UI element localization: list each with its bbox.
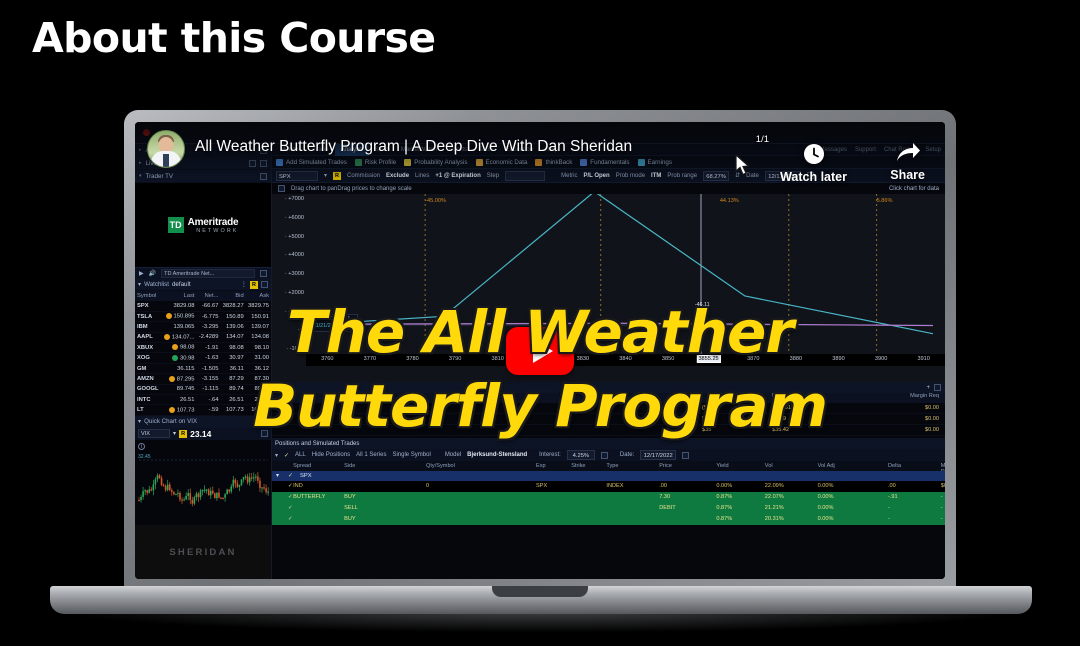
cell-symbol: LT — [135, 405, 161, 415]
table-row[interactable]: GOOGL 89.745-1.11589.7489.75 — [135, 384, 271, 394]
sim-date-input[interactable]: 12/17/2022 — [640, 450, 676, 460]
cell-delta: - — [888, 505, 890, 511]
panel-menu-icon[interactable] — [261, 281, 268, 288]
cell-bid: 139.06 — [220, 322, 245, 332]
filter-hide-positions[interactable]: Hide Positions — [312, 452, 350, 458]
chart-x-axis: 3760377037803790381038203830384038503860… — [306, 354, 945, 366]
cell-bid: 98.08 — [220, 343, 245, 353]
watchlist-name[interactable]: default — [172, 281, 238, 288]
cell-a: $1.5 — [702, 416, 713, 422]
cell-margin: $0.00 — [925, 427, 939, 433]
volume-icon[interactable]: 🔊 — [149, 270, 156, 277]
cell-a: $35 — [702, 427, 711, 433]
filter-all[interactable]: ALL — [295, 452, 306, 458]
positions-header[interactable]: + — [272, 382, 945, 393]
quick-chart-label: Quick Chart on VIX — [144, 418, 258, 425]
chart-legend: 12/16/22 -46.11 11/21/23 3715.49 — [310, 314, 358, 332]
cell-net: -.59 — [196, 405, 220, 415]
cell-margin: $0.00 — [941, 483, 945, 489]
cell-last: 134.07... — [161, 332, 197, 342]
y-tick: · +7000 — [285, 196, 304, 202]
cell-side: BUY — [344, 494, 356, 500]
cell-net: -3.155 — [196, 374, 220, 384]
table-row[interactable]: ✓IND0SPXINDEX.000.00%22.09%0.00%.00$0.00 — [272, 481, 945, 492]
td-ameritrade-logo: TD Ameritrade NETWORK — [168, 217, 239, 234]
positions-column-header: P/L Day Margin Req — [272, 393, 945, 403]
table-row[interactable]: AMZN 87.295-3.15587.2987.30 — [135, 374, 271, 384]
watchlist-table: Symbol Last Net... Bid Ask SPX 3829.08-6… — [135, 291, 271, 416]
cell-margin: $0.00 — [925, 405, 939, 411]
alert-icon — [169, 376, 175, 382]
cell-spread: IND — [293, 483, 303, 489]
cell-ask: 36.12 — [246, 363, 271, 373]
cell-last: 87.295 — [161, 374, 197, 384]
simulated-trades-columns: SpreadSideQty/SymbolExpStrikeTypePriceYi… — [272, 461, 945, 471]
cell-margin: - — [941, 494, 943, 500]
clock-icon — [802, 142, 826, 166]
play-triangle-icon — [533, 339, 553, 363]
col-vol[interactable]: Vol — [765, 463, 773, 469]
realtime-badge: R — [250, 281, 258, 289]
cell-last: 139.065 — [161, 322, 197, 332]
vix-candlestick-chart[interactable]: 32.45 12/16/21 12/16/22 i — [135, 440, 271, 536]
table-row[interactable]: AAPL 134.07...-2.4289134.07134.08 — [135, 332, 271, 342]
filter-series[interactable]: All 1 Series — [356, 452, 386, 458]
share-label: Share — [890, 168, 925, 182]
video-title[interactable]: All Weather Butterfly Program | A Deep D… — [195, 137, 632, 157]
panel-menu-icon[interactable] — [261, 430, 268, 437]
cell-vol: 21.21% — [765, 505, 784, 511]
cell-side: SELL — [344, 505, 358, 511]
cell-net: -6.775 — [196, 311, 220, 321]
cell-symbol: IBM — [135, 322, 161, 332]
col-bid[interactable]: Bid — [220, 291, 245, 301]
simulated-trades-header[interactable]: Positions and Simulated Trades — [272, 438, 945, 449]
cell-price: .00 — [659, 483, 667, 489]
cell-symbol: AAPL — [135, 332, 161, 342]
table-row[interactable]: TSLA 150.895-6.775150.89150.91 — [135, 311, 271, 321]
cell-delta: .00 — [888, 483, 896, 489]
avatar[interactable] — [147, 130, 185, 168]
video-title-field: TD Ameritrade Net... — [161, 269, 255, 278]
cell-price: 7.30 — [659, 494, 670, 500]
td-logo-mark: TD — [168, 217, 184, 233]
sheridan-brand: SHERIDAN — [135, 525, 271, 579]
interest-label: Interest: — [539, 452, 561, 458]
cell-symbol: TSLA — [135, 311, 161, 321]
cell-bid: 89.74 — [220, 384, 245, 394]
cell-vol-adj: 0.00% — [818, 516, 834, 522]
cell-symbol: SPX — [536, 483, 547, 489]
x-tick: 3880 — [790, 356, 802, 362]
col-exp[interactable]: Exp — [536, 463, 546, 469]
cell-pl-day: ($85.61) — [772, 405, 793, 411]
y-tick: · 0 — [297, 327, 304, 333]
checkbox-icon[interactable]: ✓ — [288, 494, 293, 500]
play-button[interactable] — [506, 327, 574, 375]
risk-profile-chart[interactable]: · +7000· +6000· +5000· +4000· +3000· +20… — [272, 194, 945, 382]
x-tick: 3760 — [321, 356, 333, 362]
checkbox-icon[interactable]: ✓ — [288, 483, 293, 489]
model-value[interactable]: Bjerksund-Stensland — [467, 452, 527, 458]
cell-price: DEBIT — [659, 505, 675, 511]
table-row[interactable]: XBUX 98.08-1.9198.0898.10 — [135, 343, 271, 353]
cell-bid: 87.29 — [220, 374, 245, 384]
sim-group-label: SPX — [300, 473, 312, 479]
cell-yield: 0.87% — [716, 505, 732, 511]
realtime-badge: R — [179, 430, 187, 438]
col-last[interactable]: Last — [161, 291, 197, 301]
popout-icon[interactable] — [260, 270, 267, 277]
cell-bid: 107.73 — [220, 405, 245, 415]
table-row[interactable]: INTC 26.51-.6426.5126.52 — [135, 395, 271, 405]
video-counter: 1/1 — [756, 134, 769, 145]
col-ask[interactable]: Ask — [246, 291, 271, 301]
simulated-trades-title: Positions and Simulated Trades — [275, 441, 359, 447]
vix-high-label: 32.45 — [138, 454, 151, 460]
cell-last: 3829.08 — [161, 301, 197, 311]
cell-symbol: INTC — [135, 395, 161, 405]
x-tick: 3840 — [619, 356, 631, 362]
table-row[interactable]: XOG 30.98-1.6330.9731.00 — [135, 353, 271, 363]
watchlist-header[interactable]: ▾ Watchlist default ⋮ R — [135, 279, 271, 291]
share-arrow-icon — [895, 142, 921, 164]
cell-a: (5.6 — [702, 405, 712, 411]
cell-ask: 150.91 — [246, 311, 271, 321]
col-spread[interactable]: Spread — [293, 463, 311, 469]
cell-last: 150.895 — [161, 311, 197, 321]
cell-ask: 98.10 — [246, 343, 271, 353]
cell-ask: 89.75 — [246, 384, 271, 394]
x-tick: 3780 — [406, 356, 418, 362]
x-tick: 3790 — [449, 356, 461, 362]
chevron-down-icon[interactable]: ▾ — [275, 452, 278, 459]
cell-last: 36.115 — [161, 363, 197, 373]
play-icon[interactable]: ▶ — [139, 270, 144, 277]
cell-pl-day: $35.42 — [772, 427, 789, 433]
cell-symbol: AMZN — [135, 374, 161, 384]
checkbox-icon[interactable]: ✓ — [288, 516, 293, 522]
cell-vol: 20.31% — [765, 516, 784, 522]
cell-margin: $0.00 — [925, 416, 939, 422]
cell-ask: 107.74 — [246, 405, 271, 415]
col-margin-req[interactable]: Margin Req — [910, 393, 939, 399]
table-row[interactable]: SPX 3829.08-66.673828.273829.75 — [135, 301, 271, 311]
col-pl-day[interactable]: P/L Day — [772, 393, 792, 399]
cell-net: -3.295 — [196, 322, 220, 332]
cell-bid: 26.51 — [220, 395, 245, 405]
cell-pl-day: $1.59 — [772, 416, 786, 422]
model-label: Model — [445, 452, 461, 458]
chevron-down-icon: ▾ — [138, 281, 141, 288]
td-ameritrade-network-video[interactable]: TD Ameritrade NETWORK — [135, 183, 271, 267]
share-button[interactable]: Share — [890, 142, 925, 182]
sim-date-label: Date: — [620, 452, 634, 458]
alert-icon — [166, 313, 172, 319]
cell-symbol: XBUX — [135, 343, 161, 353]
quick-chart-price: 23.14 — [190, 429, 211, 439]
cell-vol-adj: 0.00% — [818, 505, 834, 511]
left-panel: ▸ Account Info ▸ Live News ▾ Trader TV — [135, 144, 272, 579]
lock-icon[interactable] — [601, 452, 608, 459]
col-net[interactable]: Net... — [196, 291, 220, 301]
symbol-select[interactable]: VIX — [138, 429, 170, 438]
sort-icon[interactable]: ⋮ — [241, 281, 247, 288]
alert-icon — [169, 407, 175, 413]
cell-spread: BUTTERFLY — [293, 494, 325, 500]
panel-menu-icon[interactable] — [261, 418, 268, 425]
cell-bid: 30.97 — [220, 353, 245, 363]
cell-symbol: SPX — [135, 301, 161, 311]
cell-ask: 26.52 — [246, 395, 271, 405]
table-row[interactable]: GM 36.115-1.50536.1136.12 — [135, 363, 271, 373]
y-tick: · +5000 — [285, 234, 304, 240]
add-icon[interactable]: + — [926, 385, 930, 391]
chart-y-axis: · +7000· +6000· +5000· +4000· +3000· +20… — [272, 194, 306, 354]
table-row[interactable]: $35$35.42$0.00 — [272, 425, 945, 436]
alert-icon — [172, 355, 178, 361]
cell-net: -1.115 — [196, 384, 220, 394]
watchlist-header-row: Symbol Last Net... Bid Ask — [135, 291, 271, 301]
legend-entry-0: 12/16/22 -46.11 — [313, 316, 355, 323]
simulated-trades-rows: ▾ ✓ SPX ✓IND0SPXINDEX.000.00%22.09%0.00%… — [272, 471, 945, 579]
col-qty-symbol[interactable]: Qty/Symbol — [426, 463, 455, 469]
cell-net: -.64 — [196, 395, 220, 405]
chart-series-svg — [306, 194, 933, 354]
cell-ask: 3829.75 — [246, 301, 271, 311]
cell-net: -1.505 — [196, 363, 220, 373]
cell-last: 98.08 — [161, 343, 197, 353]
calendar-icon[interactable] — [682, 452, 689, 459]
col-yield[interactable]: Yield — [716, 463, 728, 469]
col-delta[interactable]: Delta — [888, 463, 901, 469]
col-strike[interactable]: Strike — [571, 463, 585, 469]
cell-side: BUY — [344, 516, 356, 522]
col-symbol[interactable]: Symbol — [135, 291, 161, 301]
cell-type: INDEX — [606, 483, 623, 489]
chevron-down-icon[interactable]: ▾ — [173, 430, 176, 437]
cell-bid: 3828.27 — [220, 301, 245, 311]
x-tick: 3810 — [491, 356, 503, 362]
chart-plot-area[interactable]: -45.00%44.13%5.86% 12/16/22 -46.11 11/21… — [306, 194, 933, 354]
watchlist-label: Watchlist — [144, 281, 169, 288]
cell-yield: 0.87% — [716, 494, 732, 500]
cell-ask: 139.07 — [246, 322, 271, 332]
legend-entry-1: 11/21/23 3715.49 — [313, 323, 355, 330]
col-type[interactable]: Type — [606, 463, 618, 469]
cell-symbol: GM — [135, 363, 161, 373]
quick-chart-header[interactable]: ▾ Quick Chart on VIX — [135, 416, 271, 428]
x-tick: 3900 — [875, 356, 887, 362]
cell-net: -1.63 — [196, 353, 220, 363]
watch-later-button[interactable]: Watch later — [780, 142, 847, 184]
td-logo-name: Ameritrade — [188, 217, 239, 228]
td-logo-sub: NETWORK — [188, 228, 239, 234]
table-row[interactable]: ✓SELLDEBIT0.87%21.21%0.00%-- — [272, 503, 945, 514]
cell-vol: 22.07% — [765, 494, 784, 500]
cell-last: 26.51 — [161, 395, 197, 405]
cell-ask: 31.00 — [246, 353, 271, 363]
cell-last: 107.73 — [161, 405, 197, 415]
interest-input[interactable]: 4.25% — [567, 450, 595, 460]
checkbox-icon[interactable]: ✓ — [284, 452, 289, 459]
chart-inline-value: -46.11 — [695, 302, 710, 308]
x-tick: 3770 — [364, 356, 376, 362]
x-tick: 3890 — [832, 356, 844, 362]
quick-chart-symbol-row[interactable]: VIX ▾ R 23.14 — [135, 428, 271, 440]
table-row[interactable]: LT 107.73-.59107.73107.74 — [135, 405, 271, 415]
chart-annotation: 44.13% — [720, 198, 739, 204]
filter-symbol[interactable]: Single Symbol — [392, 452, 430, 458]
avatar-tie — [163, 154, 169, 167]
chevron-down-icon: ▾ — [138, 418, 141, 425]
chevron-down-icon[interactable]: ▾ — [276, 473, 279, 479]
checkbox-icon[interactable]: ✓ — [288, 505, 293, 511]
cell-yield: 0.87% — [716, 516, 732, 522]
cell-margin: - — [941, 516, 943, 522]
col-side[interactable]: Side — [344, 463, 355, 469]
page-title: About this Course — [32, 14, 436, 62]
x-tick: 3850 — [662, 356, 674, 362]
cell-vol-adj: 0.00% — [818, 494, 834, 500]
laptop-lid: ▸ Account Info ▸ Live News ▾ Trader TV — [124, 110, 956, 592]
cell-bid: 150.89 — [220, 311, 245, 321]
y-tick: · +1000 — [285, 309, 304, 315]
cell-vol-adj: 0.00% — [818, 483, 834, 489]
cell-net: -1.91 — [196, 343, 220, 353]
y-tick: · -1000 — [286, 346, 304, 352]
table-row[interactable]: ✓BUTTERFLYBUY7.300.87%22.07%0.00%-.91- — [272, 492, 945, 503]
cell-delta: -.91 — [888, 494, 898, 500]
laptop-screen: ▸ Account Info ▸ Live News ▾ Trader TV — [135, 122, 945, 579]
y-tick: · +2000 — [285, 290, 304, 296]
table-row[interactable]: $1.5$1.59$0.00 — [272, 414, 945, 425]
sheridan-brand-label: SHERIDAN — [169, 547, 236, 558]
simulated-trades-filters: ▾ ✓ ALL Hide Positions All 1 Series Sing… — [272, 449, 945, 461]
chart-annotation: 5.86% — [877, 198, 893, 204]
checkbox-icon[interactable]: ✓ — [288, 473, 293, 479]
y-tick: · +4000 — [285, 252, 304, 258]
alert-icon — [172, 344, 178, 350]
panel-menu-icon[interactable] — [934, 384, 941, 391]
laptop-notch — [492, 586, 588, 597]
cell-symbol: GOOGL — [135, 384, 161, 394]
x-tick: 3910 — [917, 356, 929, 362]
cell-margin: - — [941, 505, 943, 511]
table-row[interactable]: IBM 139.065-3.295139.06139.07 — [135, 322, 271, 332]
cell-last: 30.98 — [161, 353, 197, 363]
x-current-price-marker: 3855.25 — [696, 355, 720, 363]
vix-chart-svg — [135, 440, 271, 536]
chart-annotation: -45.00% — [425, 198, 446, 204]
cell-net: -66.67 — [196, 301, 220, 311]
cell-ask: 87.30 — [246, 374, 271, 384]
alert-icon — [164, 334, 170, 340]
x-tick: 3870 — [747, 356, 759, 362]
video-player-controls[interactable]: ▶ 🔊 TD Ameritrade Net... — [135, 267, 271, 279]
y-tick: · +6000 — [285, 215, 304, 221]
cell-qty: 0 — [426, 483, 429, 489]
cell-ask: 134.08 — [246, 332, 271, 342]
watch-later-label: Watch later — [780, 170, 847, 184]
col-price[interactable]: Price — [659, 463, 672, 469]
col-vol-adj[interactable]: Vol Adj — [818, 463, 835, 469]
cell-net: -2.4289 — [196, 332, 220, 342]
positions-rows: (5.6($85.61)$0.00$1.5$1.59$0.00$35$35.42… — [272, 403, 945, 436]
info-icon[interactable]: i — [138, 443, 145, 450]
mouse-cursor — [735, 154, 751, 181]
y-tick: · +3000 — [285, 271, 304, 277]
cell-delta: - — [888, 516, 890, 522]
cell-last: 89.745 — [161, 384, 197, 394]
sim-group-row[interactable]: ▾ ✓ SPX — [272, 471, 945, 481]
laptop-mockup: ▸ Account Info ▸ Live News ▾ Trader TV — [0, 110, 1080, 646]
cell-vol: 22.09% — [765, 483, 784, 489]
cell-bid: 36.11 — [220, 363, 245, 373]
cell-symbol: XOG — [135, 353, 161, 363]
table-row[interactable]: (5.6($85.61)$0.00 — [272, 403, 945, 414]
cell-yield: 0.00% — [716, 483, 732, 489]
main-panel: MonitorTradeAnalyzeScanMarketWatchCharts… — [272, 144, 945, 579]
x-tick: 3830 — [577, 356, 589, 362]
table-row[interactable]: ✓BUY0.87%20.31%0.00%-- — [272, 514, 945, 525]
cell-bid: 134.07 — [220, 332, 245, 342]
